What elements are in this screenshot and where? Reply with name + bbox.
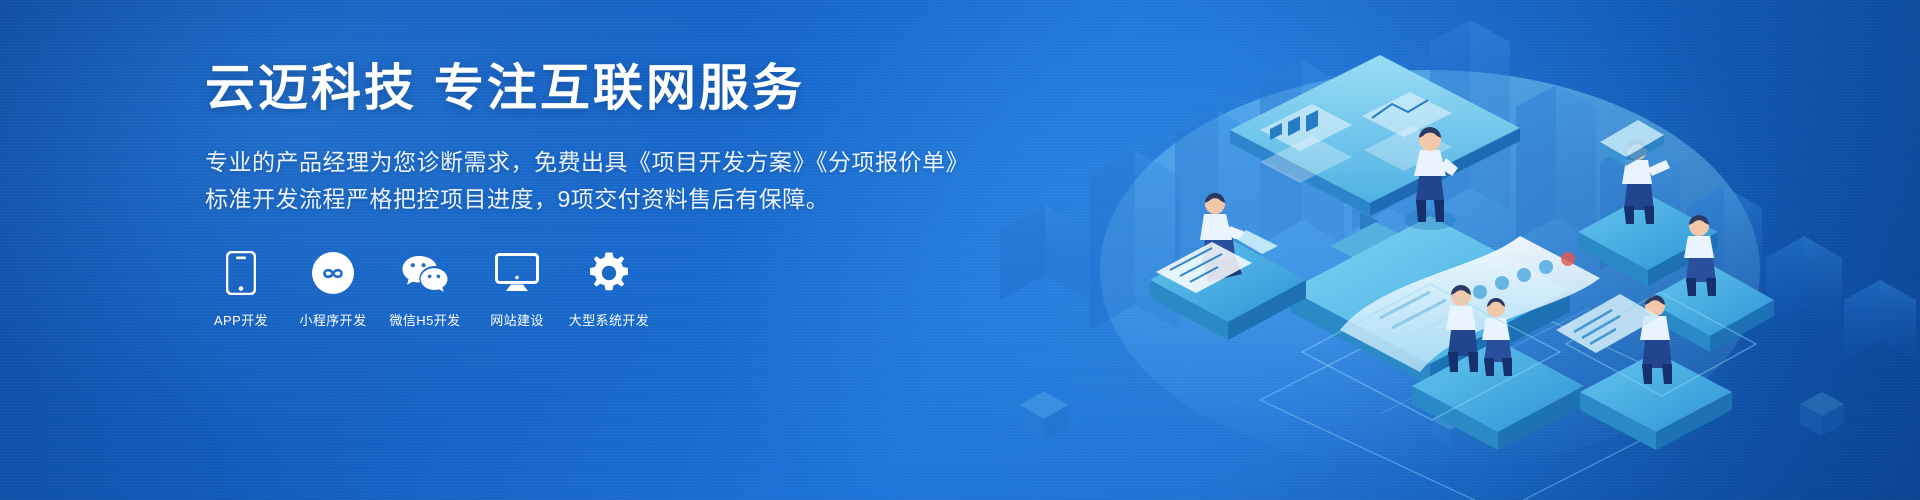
- monitor-icon: [495, 250, 539, 296]
- service-label: APP开发: [214, 310, 268, 329]
- service-item-app[interactable]: APP开发: [205, 250, 277, 329]
- wechat-icon: [401, 250, 449, 296]
- service-item-website[interactable]: 网站建设: [481, 250, 553, 329]
- hero-copy: 云迈科技 专注互联网服务 专业的产品经理为您诊断需求，免费出具《项目开发方案》《…: [205, 60, 969, 329]
- illustration-container: [960, 0, 1920, 500]
- service-label: 网站建设: [490, 310, 544, 329]
- service-item-large-system[interactable]: 大型系统开发: [573, 250, 645, 329]
- gear-icon: [588, 250, 630, 296]
- hero-banner: 云迈科技 专注互联网服务 专业的产品经理为您诊断需求，免费出具《项目开发方案》《…: [0, 0, 1920, 500]
- service-label: 微信H5开发: [389, 310, 460, 329]
- isometric-data-platform-illustration: [960, 0, 1920, 500]
- service-list: APP开发 小程序开发: [205, 250, 969, 329]
- mini-program-icon: [311, 250, 355, 296]
- subtitle-line-1: 专业的产品经理为您诊断需求，免费出具《项目开发方案》《分项报价单》: [205, 149, 969, 175]
- service-label: 大型系统开发: [569, 310, 649, 329]
- service-item-mini-program[interactable]: 小程序开发: [297, 250, 369, 329]
- service-label: 小程序开发: [299, 310, 366, 329]
- subtitle-line-2: 标准开发流程严格把控项目进度，9项交付资料售后有保障。: [205, 181, 969, 218]
- service-item-wechat-h5[interactable]: 微信H5开发: [389, 250, 461, 329]
- hero-subtitle: 专业的产品经理为您诊断需求，免费出具《项目开发方案》《分项报价单》 标准开发流程…: [205, 144, 969, 219]
- mobile-phone-icon: [226, 250, 256, 296]
- page-title: 云迈科技 专注互联网服务: [205, 60, 969, 118]
